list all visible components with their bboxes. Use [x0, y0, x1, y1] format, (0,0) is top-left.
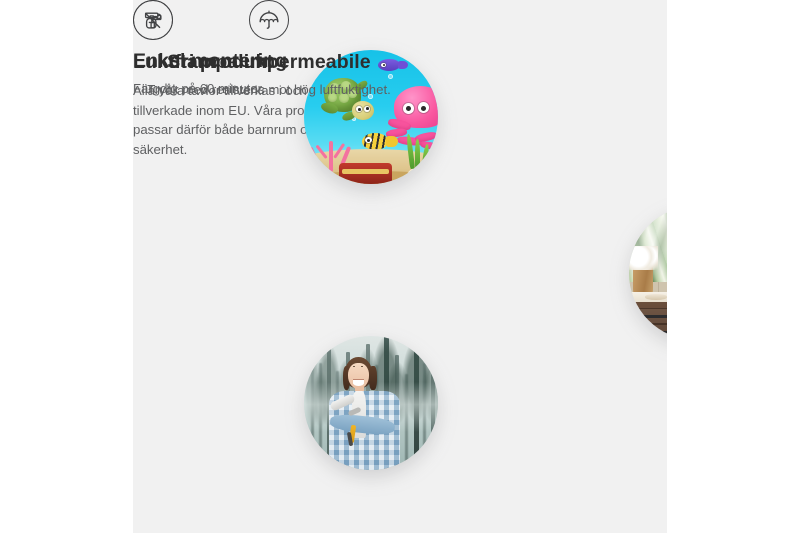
white-flowers — [629, 246, 658, 270]
feature-title: Enkel montering — [133, 49, 433, 73]
bathroom-scene — [629, 206, 667, 340]
product-feature-infographic: Luktfri produkt Alla våra tavlor tillver… — [0, 0, 800, 533]
hair-right — [369, 366, 376, 390]
drawer-handle[interactable] — [643, 331, 667, 334]
content-panel: Luktfri produkt Alla våra tavlor tillver… — [133, 0, 667, 533]
feature-easy-installation-text: Enkel montering Färgdig på 60 minuter. — [133, 0, 433, 99]
woman-illustration — [325, 357, 408, 470]
soap-dish — [645, 294, 666, 299]
drawer-handle[interactable] — [643, 315, 667, 318]
vanity-cabinet — [629, 302, 667, 340]
feature-body: Färgdig på 60 minuter. — [133, 79, 433, 98]
shell-illustration — [407, 168, 430, 183]
bathroom-tropical-wallpaper-circle — [629, 206, 667, 340]
fish-yellow-striped — [362, 133, 389, 150]
seaweed-illustration — [407, 134, 428, 169]
paint-roller-icon — [133, 0, 173, 40]
woman-with-paint-roller-forest-circle — [304, 336, 438, 470]
feature-easy-installation: Enkel montering Färgdig på 60 minuter. — [133, 0, 433, 99]
treasure-chest-illustration — [339, 163, 393, 184]
